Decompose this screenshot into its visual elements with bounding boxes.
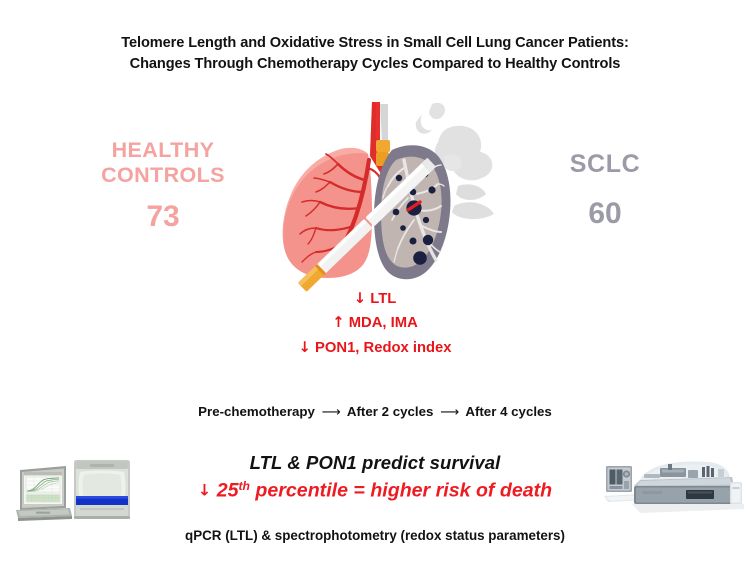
findings-list: ↓ LTL ↑ MDA, IMA ↓ PON1, Redox index: [0, 287, 750, 360]
sclc-label: SCLC: [490, 150, 720, 180]
lungs-illustration: [272, 98, 500, 294]
spectrophotometer-instrument-image: [604, 456, 746, 522]
trachea-gray: [380, 104, 388, 142]
timeline-step-pre: Pre-chemotherapy: [198, 404, 315, 419]
timeline-step-cycle4: After 4 cycles: [465, 404, 551, 419]
down-arrow-icon: ↓: [298, 339, 310, 356]
thermocycler-icon: [74, 460, 130, 519]
title-line-2: Changes Through Chemotherapy Cycles Comp…: [0, 54, 750, 75]
methods-caption: qPCR (LTL) & spectrophotometry (redox st…: [0, 528, 750, 543]
up-arrow-icon: ↑: [332, 314, 344, 331]
graphical-abstract: Telomere Length and Oxidative Stress in …: [0, 0, 750, 563]
sclc-group: SCLC 60: [490, 150, 720, 231]
title-line-1: Telomere Length and Oxidative Stress in …: [0, 33, 750, 54]
down-arrow-icon: ↓: [198, 480, 211, 499]
right-arrow-icon: ⟶: [319, 405, 344, 420]
healthy-controls-label-line-1: HEALTHY: [48, 138, 278, 163]
chemotherapy-timeline: Pre-chemotherapy ⟶ After 2 cycles ⟶ Afte…: [0, 404, 750, 420]
healthy-controls-label-line-2: CONTROLS: [48, 163, 278, 188]
conclusion-risk-text: percentile = higher risk of death: [255, 479, 552, 501]
sclc-count: 60: [490, 196, 720, 231]
qpcr-instrument-image: [14, 452, 138, 524]
timeline-step-cycle2: After 2 cycles: [347, 404, 433, 419]
percentile-ordinal-suffix: th: [239, 479, 250, 493]
page-title: Telomere Length and Oxidative Stress in …: [0, 33, 750, 75]
laptop-icon: [16, 466, 72, 521]
finding-mda-ima: ↑ MDA, IMA: [0, 311, 750, 335]
down-arrow-icon: ↓: [354, 290, 366, 307]
finding-ltl-label: LTL: [370, 291, 396, 307]
analyzer-body: [632, 462, 744, 513]
healthy-controls-count: 73: [48, 199, 278, 234]
percentile-value: 25: [217, 479, 239, 501]
finding-pon1-redox-label: PON1, Redox index: [315, 340, 452, 356]
finding-pon1-redox: ↓ PON1, Redox index: [0, 336, 750, 360]
finding-mda-ima-label: MDA, IMA: [349, 315, 418, 331]
healthy-controls-group: HEALTHY CONTROLS 73: [48, 138, 278, 234]
finding-ltl: ↓ LTL: [0, 287, 750, 311]
right-arrow-icon: ⟶: [437, 405, 462, 420]
trachea-band: [376, 140, 390, 152]
